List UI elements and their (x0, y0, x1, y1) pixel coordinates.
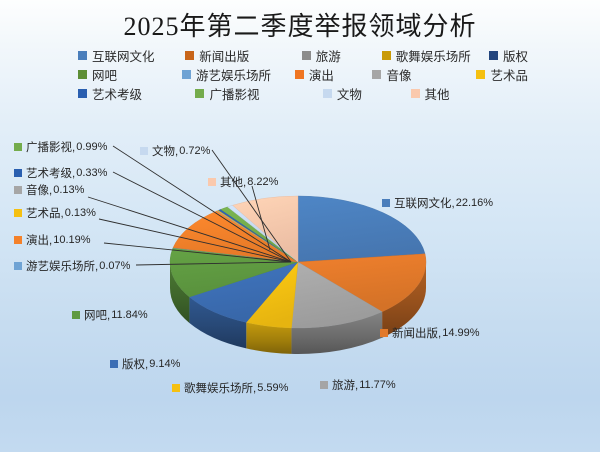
data-label-name: 文物, (152, 143, 178, 159)
data-label-percent: 0.07% (99, 260, 130, 272)
data-label-percent: 0.99% (76, 141, 107, 153)
data-label-yinxiang[interactable]: 音像, 0.13% (14, 182, 84, 198)
pie-svg (0, 0, 600, 452)
data-label-name: 旅游, (332, 377, 358, 393)
data-label-name: 艺术品, (26, 205, 64, 221)
data-label-name: 互联网文化, (394, 195, 455, 211)
data-label-gewu[interactable]: 歌舞娱乐场所, 5.59% (172, 380, 288, 396)
data-label-percent: 5.59% (257, 382, 288, 394)
data-label-swatch-icon (14, 186, 22, 194)
data-label-yishukaoji[interactable]: 艺术考级, 0.33% (14, 165, 107, 181)
data-label-yanchu[interactable]: 演出, 10.19% (14, 232, 91, 248)
data-label-swatch-icon (140, 147, 148, 155)
data-label-percent: 14.99% (442, 327, 479, 339)
data-label-yishupin[interactable]: 艺术品, 0.13% (14, 205, 96, 221)
data-label-percent: 22.16% (456, 197, 493, 209)
pie-top-slices (170, 196, 426, 328)
data-label-youyi[interactable]: 游艺娱乐场所, 0.07% (14, 258, 130, 274)
data-label-name: 艺术考级, (26, 165, 75, 181)
data-label-xinwen[interactable]: 新闻出版, 14.99% (380, 325, 480, 341)
data-label-percent: 10.19% (53, 234, 90, 246)
data-label-swatch-icon (14, 169, 22, 177)
data-label-name: 网吧, (84, 307, 110, 323)
data-label-percent: 0.72% (179, 145, 210, 157)
data-label-swatch-icon (320, 381, 328, 389)
data-label-swatch-icon (208, 178, 216, 186)
pie-chart-figure: 2025年第二季度举报领域分析 互联网文化新闻出版旅游歌舞娱乐场所版权 网吧游艺… (0, 0, 600, 452)
data-label-swatch-icon (14, 143, 22, 151)
data-label-percent: 8.22% (247, 176, 278, 188)
data-label-name: 歌舞娱乐场所, (184, 380, 256, 396)
data-label-percent: 11.77% (359, 379, 396, 391)
data-label-percent: 0.13% (53, 184, 84, 196)
data-label-swatch-icon (14, 236, 22, 244)
data-label-lvyou[interactable]: 旅游, 11.77% (320, 377, 396, 393)
data-label-name: 广播影视, (26, 139, 75, 155)
data-label-name: 其他, (220, 174, 246, 190)
data-label-percent: 0.13% (65, 207, 96, 219)
data-label-swatch-icon (110, 360, 118, 368)
data-label-swatch-icon (14, 262, 22, 270)
data-label-swatch-icon (14, 209, 22, 217)
data-label-hulianwang[interactable]: 互联网文化, 22.16% (382, 195, 493, 211)
data-label-swatch-icon (172, 384, 180, 392)
data-label-name: 游艺娱乐场所, (26, 258, 98, 274)
data-label-percent: 0.33% (76, 167, 107, 179)
data-label-name: 音像, (26, 182, 52, 198)
data-label-guangbo[interactable]: 广播影视, 0.99% (14, 139, 107, 155)
data-label-percent: 11.84% (111, 309, 148, 321)
data-label-swatch-icon (72, 311, 80, 319)
data-label-banquan[interactable]: 版权, 9.14% (110, 356, 180, 372)
data-label-name: 版权, (122, 356, 148, 372)
data-label-name: 演出, (26, 232, 52, 248)
data-label-swatch-icon (380, 329, 388, 337)
data-label-qita[interactable]: 其他, 8.22% (208, 174, 278, 190)
data-label-percent: 9.14% (149, 358, 180, 370)
data-label-wenwu[interactable]: 文物, 0.72% (140, 143, 210, 159)
data-label-name: 新闻出版, (392, 325, 441, 341)
data-label-wangba[interactable]: 网吧, 11.84% (72, 307, 148, 323)
data-label-swatch-icon (382, 199, 390, 207)
